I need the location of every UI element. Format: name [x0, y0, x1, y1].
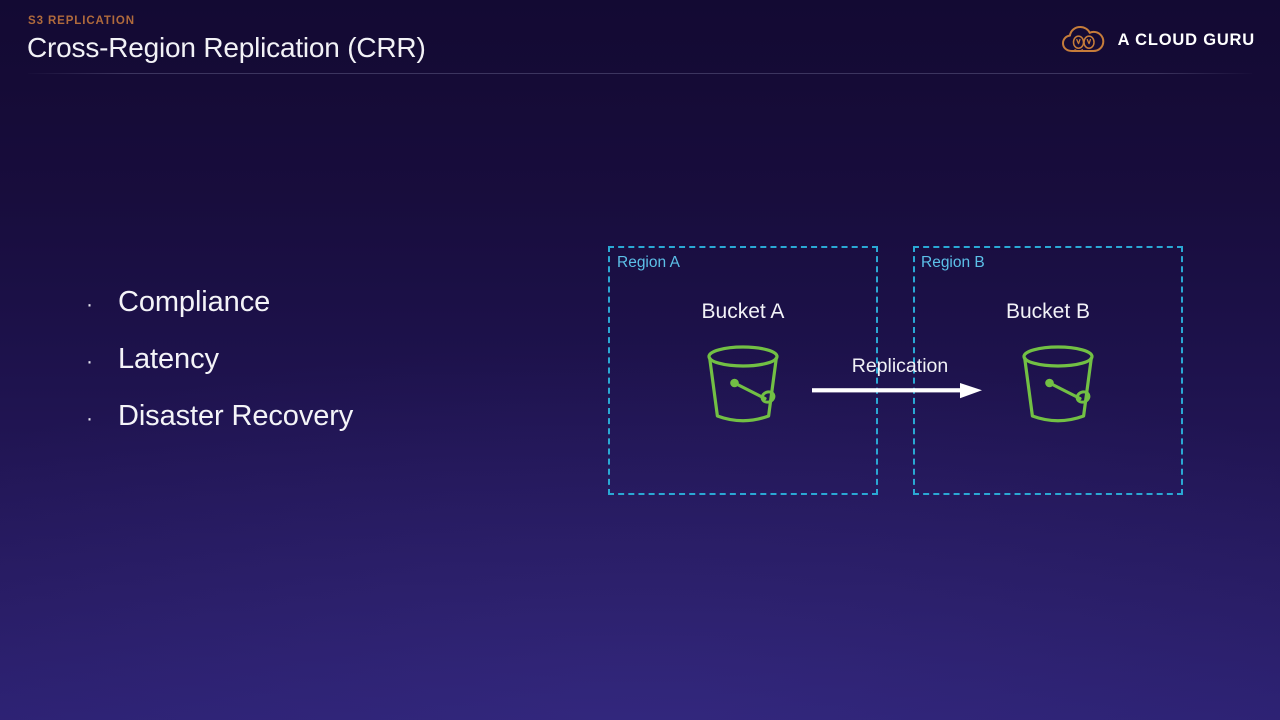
bucket-label-b: Bucket B	[913, 300, 1183, 324]
replication-label: Replication	[812, 355, 988, 378]
cloud-guru-logo-icon	[1061, 24, 1107, 56]
brand-logo: A CLOUD GURU	[1061, 24, 1255, 56]
bucket-label-a: Bucket A	[608, 300, 878, 324]
slide-header: S3 REPLICATION Cross-Region Replication …	[0, 0, 1280, 74]
page-title: Cross-Region Replication (CRR)	[27, 32, 426, 64]
brand-name: A CLOUD GURU	[1118, 31, 1255, 50]
right-arrow-icon	[812, 381, 984, 401]
replication-flow: Replication	[812, 355, 988, 403]
header-divider	[28, 73, 1252, 74]
s3-bucket-icon	[699, 343, 787, 427]
region-label-a: Region A	[617, 254, 680, 272]
region-label-b: Region B	[921, 254, 985, 272]
s3-bucket-icon	[1014, 343, 1102, 427]
section-eyebrow: S3 REPLICATION	[28, 15, 135, 27]
replication-diagram: Region A Bucket A Region B Bucket B	[0, 0, 1280, 720]
slide: S3 REPLICATION Cross-Region Replication …	[0, 0, 1280, 720]
